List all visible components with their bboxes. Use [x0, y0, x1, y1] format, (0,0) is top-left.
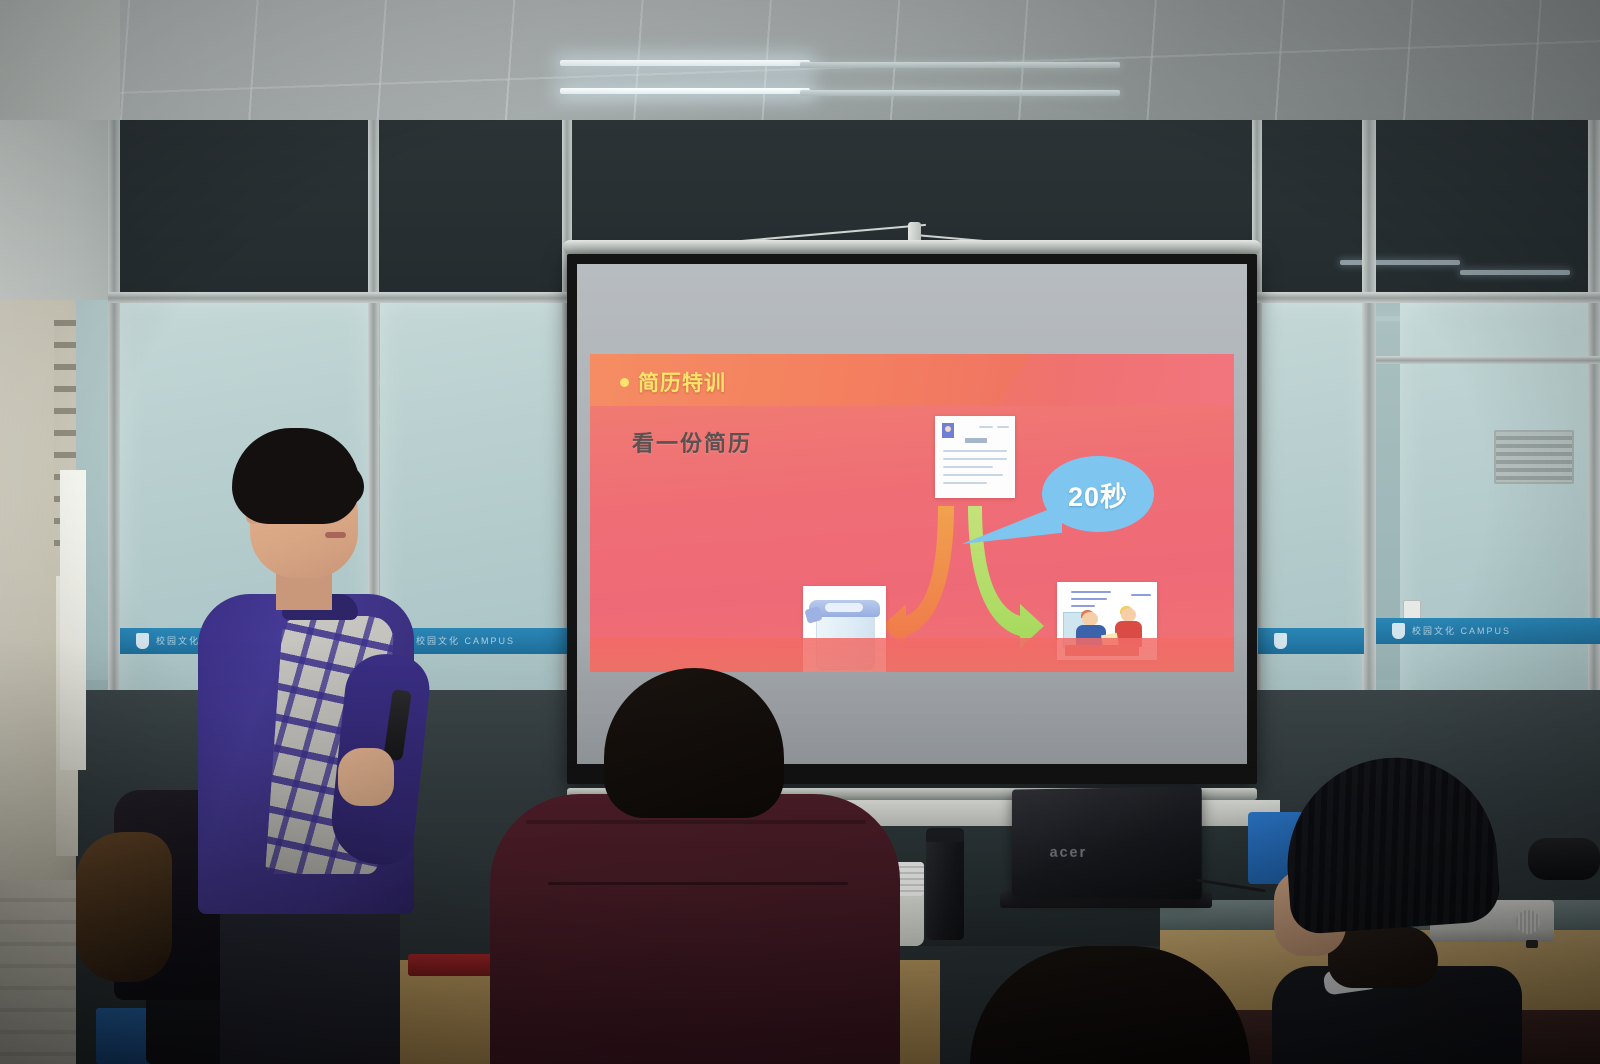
school-logo-icon: [136, 633, 149, 649]
projected-slide: 简历特训 看一份简历: [590, 354, 1234, 672]
slide-subtitle: 看一份简历: [632, 426, 752, 458]
wall-logo-band: 校园文化 CAMPUS: [1376, 618, 1600, 644]
laptop-lid: acer: [1012, 786, 1202, 899]
curved-arrow-left-icon: [882, 506, 954, 648]
resume-text-line: [979, 426, 993, 428]
slide-title: 简历特训: [620, 367, 726, 397]
ceiling-light-tube: [800, 90, 1120, 96]
resume-document-icon: [935, 416, 1015, 498]
school-logo-icon: [1274, 633, 1287, 649]
speech-bubble: 20秒: [1042, 456, 1154, 532]
cartoon-caption-line: [1071, 605, 1095, 607]
cartoon-person-head: [1121, 608, 1136, 622]
audience-back-seam: [548, 882, 848, 885]
cartoon-person-head: [1082, 612, 1098, 626]
ceiling-light-tube: [560, 60, 810, 66]
window-mullion-horizontal: [1376, 356, 1600, 364]
speech-bubble-text: 20秒: [1068, 475, 1128, 514]
cartoon-caption-line: [1131, 594, 1151, 596]
cartoon-caption-line: [1071, 591, 1111, 593]
ventilation-grille-icon: [1494, 430, 1574, 484]
presenter: [190, 418, 440, 1064]
audience-hair: [970, 946, 1250, 1064]
audience-member-center: [478, 668, 908, 1064]
resume-heading-block: [965, 438, 987, 443]
acer-laptop[interactable]: acer: [1000, 788, 1200, 916]
resume-photo-icon: [942, 423, 954, 438]
black-beanie-hat: [1280, 751, 1501, 935]
glass-pane: [1258, 300, 1368, 720]
audience-jacket: [490, 794, 900, 1064]
projector-foot: [1526, 940, 1538, 948]
slide-footer-band: [590, 638, 1234, 672]
presenter-hair: [232, 428, 360, 524]
presenter-hand: [338, 748, 394, 806]
window-mullion: [108, 120, 120, 720]
audience-member-beanie: [1272, 758, 1522, 1064]
wall-logo-band: [1258, 628, 1364, 654]
presentation-photo-scene: 校园文化 CAMPUS 校园文化 CAMPUS 校园文化 CAMPUS: [0, 0, 1600, 1064]
ceiling-light-tube: [560, 88, 810, 94]
resume-text-line: [997, 426, 1009, 428]
wall-band-text: 校园文化 CAMPUS: [1412, 624, 1511, 637]
ceiling-light-tube: [800, 62, 1120, 68]
presenter-mouth: [325, 532, 346, 538]
audience-member-foreground: [960, 946, 1260, 1064]
presenter-legs: [220, 888, 400, 1064]
resume-text-line: [943, 450, 1007, 452]
cabinet-lower-fins: [0, 880, 76, 1064]
resume-text-line: [943, 466, 993, 468]
resume-text-line: [943, 482, 987, 484]
fur-hood: [76, 832, 172, 982]
window-mullion-horizontal: [1252, 292, 1600, 303]
resume-text-line: [943, 458, 1007, 460]
cartoon-caption-line: [1071, 598, 1107, 600]
slide-title-text: 简历特训: [638, 367, 726, 397]
window-mullion: [1362, 120, 1376, 720]
bullet-dot-icon: [620, 378, 629, 387]
school-logo-icon: [1392, 623, 1405, 639]
screen-top-bar: [563, 240, 1261, 254]
acer-logo: acer: [1050, 844, 1088, 861]
black-bag: [1528, 838, 1600, 880]
black-thermos-bottle: [926, 828, 964, 940]
window-mullion-horizontal: [108, 292, 578, 303]
resume-text-line: [943, 474, 1003, 476]
whiteboard-edge: [60, 470, 86, 770]
audience-shoulder-seam: [526, 820, 866, 824]
audience-hair: [604, 668, 784, 818]
